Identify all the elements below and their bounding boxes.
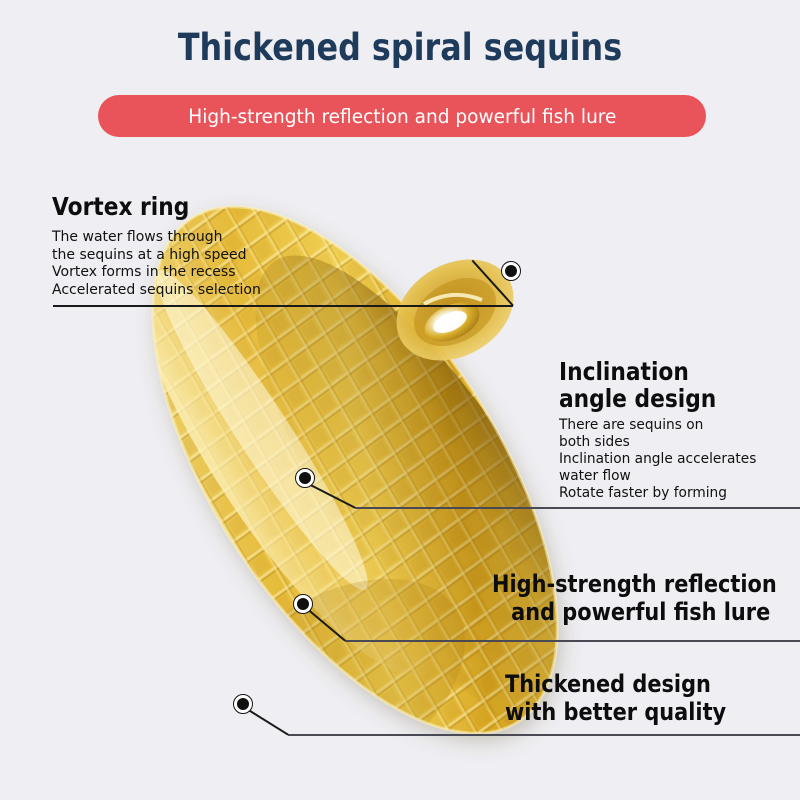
- callout-vortex-ring-heading: Vortex ring: [52, 192, 241, 221]
- leader-rule-thickened: [288, 734, 800, 736]
- callout-inclination-angle-line-1: There are sequins on: [559, 417, 756, 434]
- callout-inclination-angle-heading-line-2: angle design: [559, 385, 738, 412]
- callout-thickened-design: Thickened design with better quality: [505, 670, 759, 726]
- callout-high-strength-heading-line-1: High-strength reflection: [492, 570, 777, 598]
- callout-vortex-ring-line-3: Vortex forms in the recess: [52, 263, 261, 281]
- callout-inclination-angle: Inclination angle design There are sequi…: [559, 358, 765, 502]
- infographic-page: Thickened spiral sequins High-strength r…: [0, 0, 800, 800]
- marker-high-strength[interactable]: [293, 594, 313, 614]
- callout-vortex-ring-line-4: Accelerated sequins selection: [52, 281, 261, 299]
- callout-inclination-angle-line-4: water flow: [559, 468, 756, 485]
- callout-vortex-ring: Vortex ring The water flows through the …: [52, 192, 270, 298]
- callout-vortex-ring-line-2: the sequins at a high speed: [52, 246, 261, 264]
- callout-inclination-angle-line-5: Rotate faster by forming: [559, 485, 756, 502]
- callout-thickened-design-heading-line-1: Thickened design: [505, 670, 726, 698]
- callout-high-strength: High-strength reflection and powerful fi…: [492, 570, 800, 626]
- leader-rule-high-strength: [345, 640, 800, 642]
- callout-thickened-design-heading-line-2: with better quality: [505, 698, 726, 726]
- leader-rule-inclination: [355, 507, 800, 509]
- callout-inclination-angle-line-3: Inclination angle accelerates: [559, 451, 756, 468]
- leader-rule-vortex-ring: [53, 305, 513, 307]
- callout-inclination-angle-heading-line-1: Inclination: [559, 358, 738, 385]
- callout-high-strength-heading-line-2: and powerful fish lure: [492, 598, 777, 626]
- marker-inclination-angle[interactable]: [295, 468, 315, 488]
- marker-vortex-ring[interactable]: [501, 261, 521, 281]
- callout-inclination-angle-line-2: both sides: [559, 434, 756, 451]
- callout-vortex-ring-line-1: The water flows through: [52, 228, 261, 246]
- marker-thickened-design[interactable]: [233, 694, 253, 714]
